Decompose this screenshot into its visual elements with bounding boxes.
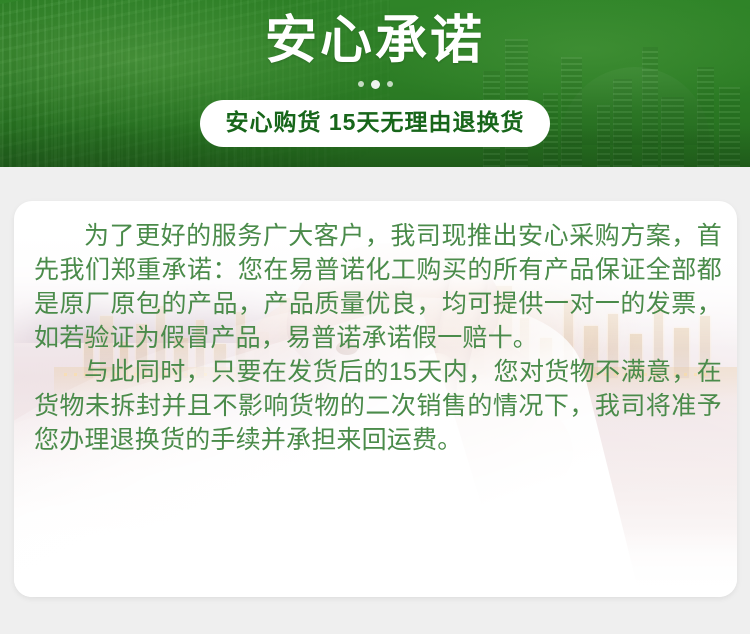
promise-content-card: 为了更好的服务广大客户，我司现推出安心采购方案，首先我们郑重承诺：您在易普诺化工… — [14, 201, 737, 597]
dot-separator — [358, 78, 393, 90]
promise-body-text: 为了更好的服务广大客户，我司现推出安心采购方案，首先我们郑重承诺：您在易普诺化工… — [34, 219, 722, 457]
dot-icon-right — [387, 81, 393, 87]
page-title: 安心承诺 — [265, 12, 485, 70]
photo-bottom-fade — [14, 527, 737, 597]
promise-paragraph-1: 为了更好的服务广大客户，我司现推出安心采购方案，首先我们郑重承诺：您在易普诺化工… — [34, 219, 722, 355]
dot-icon-center — [371, 80, 380, 89]
dot-icon-left — [358, 81, 364, 87]
promise-banner: 安心承诺 安心购货 15天无理由退换货 — [0, 0, 750, 167]
promise-paragraph-2: 与此同时，只要在发货后的15天内，您对货物不满意，在货物未拆封并且不影响货物的二… — [34, 355, 722, 457]
return-policy-badge: 安心购货 15天无理由退换货 — [200, 100, 551, 147]
